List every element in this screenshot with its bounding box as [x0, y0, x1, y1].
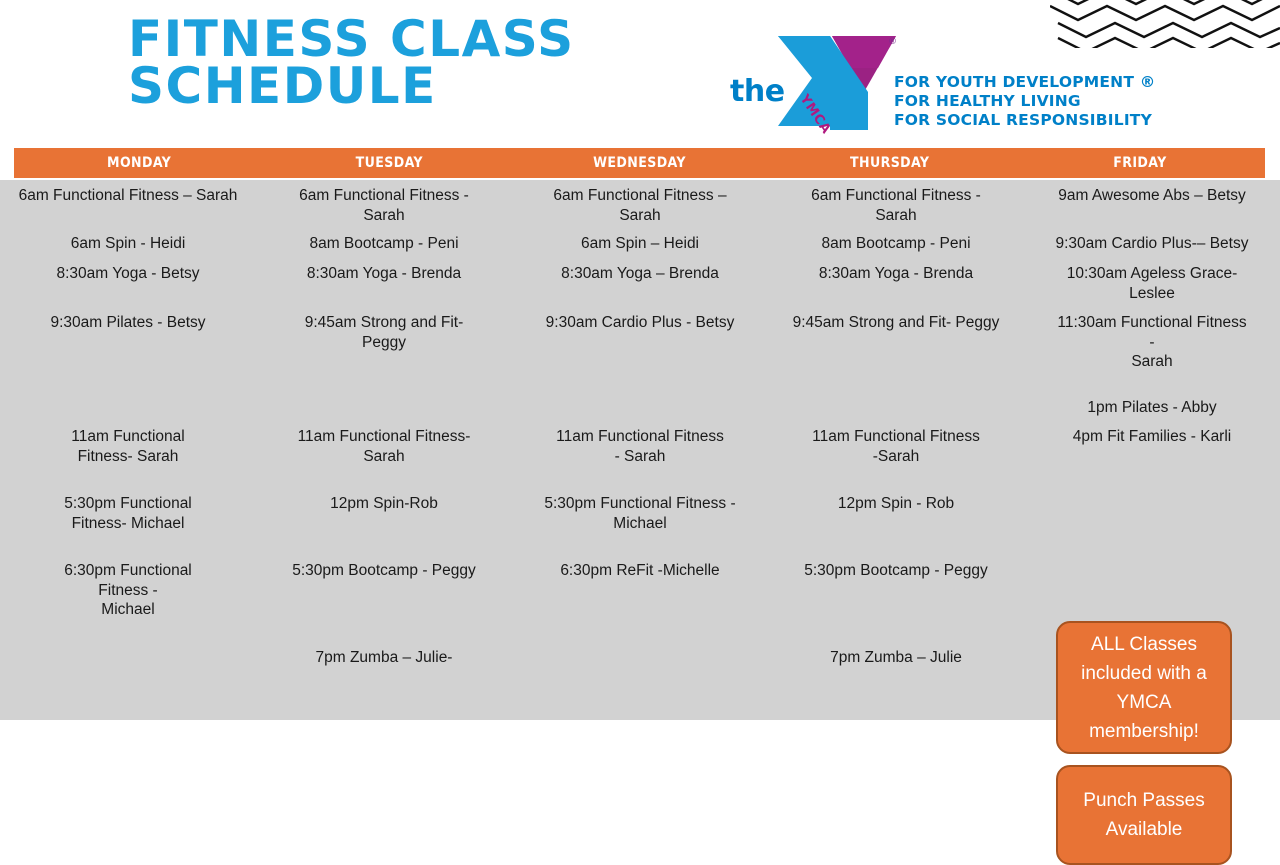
class-entry: 10:30am Ageless Grace- Leslee — [1028, 264, 1276, 303]
class-entry: 6:30pm Functional Fitness - Michael — [4, 561, 252, 620]
class-entry: 11am Functional Fitness- Sarah — [4, 427, 252, 466]
class-entry: 8:30am Yoga - Brenda — [772, 264, 1020, 284]
class-entry: 9:30am Pilates - Betsy — [4, 313, 252, 333]
class-entry: 6am Spin – Heidi — [516, 234, 764, 254]
class-entry: 9:45am Strong and Fit- Peggy — [772, 313, 1020, 333]
class-entry: 9am Awesome Abs – Betsy — [1028, 186, 1276, 206]
day-column-thursday: 6am Functional Fitness - Sarah8am Bootca… — [768, 182, 1024, 720]
class-entry: 9:30am Cardio Plus - Betsy — [516, 313, 764, 333]
column-header-monday: MONDAY — [14, 148, 264, 178]
class-entry: 1pm Pilates - Abby — [1028, 398, 1276, 418]
class-entry: 11am Functional Fitness -Sarah — [772, 427, 1020, 466]
class-entry: 6am Functional Fitness – Sarah — [4, 186, 252, 206]
class-entry: 11am Functional Fitness - Sarah — [516, 427, 764, 466]
class-entry: 5:30pm Functional Fitness- Michael — [4, 494, 252, 533]
class-entry: 7pm Zumba – Julie- — [260, 648, 508, 668]
class-entry: 8am Bootcamp - Peni — [260, 234, 508, 254]
class-entry: 8:30am Yoga - Betsy — [4, 264, 252, 284]
registered-trademark-icon: ® — [888, 37, 897, 47]
column-header-thursday: THURSDAY — [765, 148, 1015, 178]
ymca-y-mark-icon — [772, 30, 902, 135]
class-entry: 5:30pm Functional Fitness - Michael — [516, 494, 764, 533]
class-entry: 5:30pm Bootcamp - Peggy — [772, 561, 1020, 581]
column-header-tuesday: TUESDAY — [264, 148, 514, 178]
class-entry: 8am Bootcamp - Peni — [772, 234, 1020, 254]
class-entry: 7pm Zumba – Julie — [772, 648, 1020, 668]
schedule-table: MONDAY TUESDAY WEDNESDAY THURSDAY FRIDAY… — [0, 148, 1280, 720]
class-entry: 12pm Spin-Rob — [260, 494, 508, 514]
class-entry: 6am Functional Fitness - Sarah — [260, 186, 508, 225]
page-title: FITNESS CLASS SCHEDULE — [128, 16, 688, 110]
class-entry: 6am Functional Fitness – Sarah — [516, 186, 764, 225]
callout-membership: ALL Classes included with a YMCA members… — [1056, 621, 1232, 754]
class-entry: 11:30am Functional Fitness - Sarah — [1028, 313, 1276, 372]
class-entry: 9:30am Cardio Plus-– Betsy — [1028, 234, 1276, 254]
class-entry: 9:45am Strong and Fit- Peggy — [260, 313, 508, 352]
column-header-wednesday: WEDNESDAY — [514, 148, 764, 178]
class-entry: 6am Spin - Heidi — [4, 234, 252, 254]
class-entry: 6am Functional Fitness - Sarah — [772, 186, 1020, 225]
class-entry: 11am Functional Fitness- Sarah — [260, 427, 508, 466]
day-column-monday: 6am Functional Fitness – Sarah6am Spin -… — [0, 182, 256, 720]
page-header: FITNESS CLASS SCHEDULE the ® YMCA FOR YO… — [0, 0, 1280, 148]
callout-punch-passes: Punch Passes Available — [1056, 765, 1232, 865]
logo-tagline: FOR YOUTH DEVELOPMENT ® FOR HEALTHY LIVI… — [894, 73, 1155, 130]
class-entry: 12pm Spin - Rob — [772, 494, 1020, 514]
class-entry: 6:30pm ReFit -Michelle — [516, 561, 764, 581]
day-column-tuesday: 6am Functional Fitness - Sarah8am Bootca… — [256, 182, 512, 720]
class-entry: 4pm Fit Families - Karli — [1028, 427, 1276, 447]
day-column-wednesday: 6am Functional Fitness – Sarah6am Spin –… — [512, 182, 768, 720]
zigzag-decoration-icon — [1050, 0, 1280, 48]
column-header-friday: FRIDAY — [1015, 148, 1265, 178]
class-entry: 8:30am Yoga - Brenda — [260, 264, 508, 284]
table-header-row: MONDAY TUESDAY WEDNESDAY THURSDAY FRIDAY — [14, 148, 1265, 178]
class-entry: 5:30pm Bootcamp - Peggy — [260, 561, 508, 581]
class-entry: 8:30am Yoga – Brenda — [516, 264, 764, 284]
